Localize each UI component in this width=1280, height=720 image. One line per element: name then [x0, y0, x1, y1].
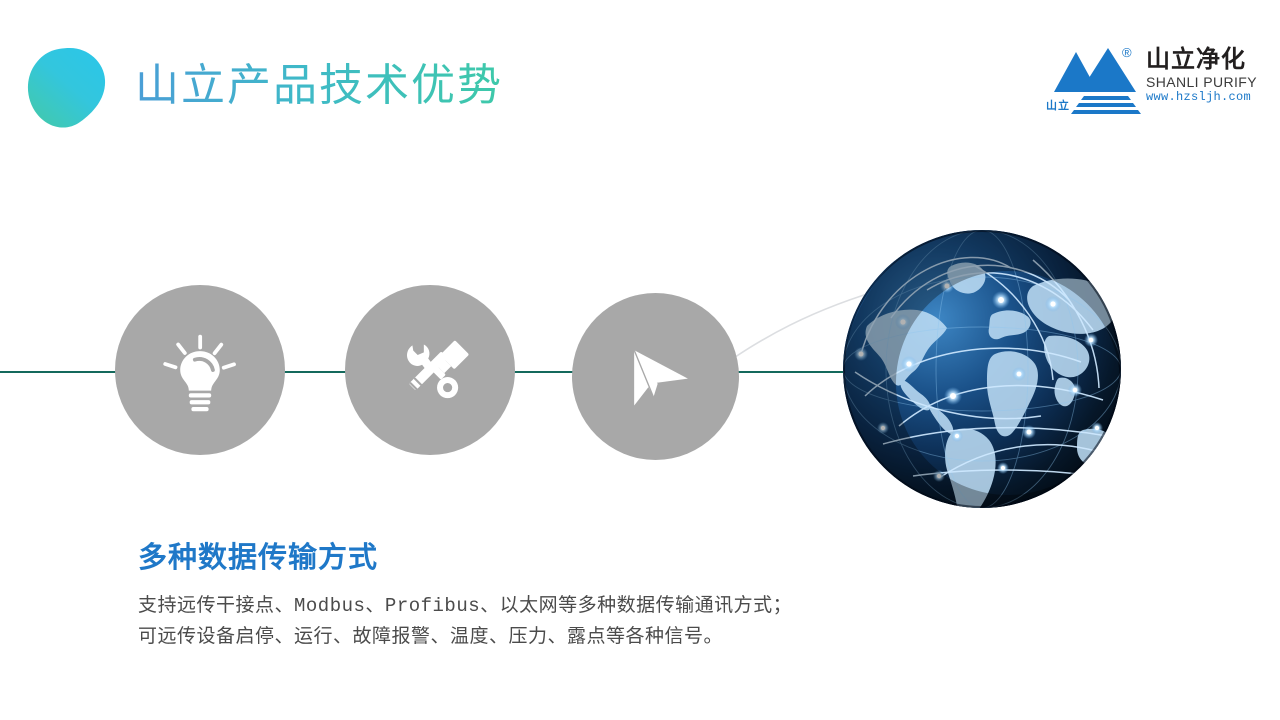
paper-plane-icon [614, 335, 698, 419]
logo-wordmark: 山立净化 SHANLI PURIFY www.hzsljh.com [1146, 46, 1270, 105]
brand-logo: ® 山立 山立净化 SHANLI PURIFY www.hzsljh.com [1046, 44, 1268, 120]
slide-canvas: 山立产品技术优势 ® 山立 山立净化 SHANLI PURIFY www.hzs… [0, 0, 1280, 720]
logo-mark-caption: 山立 [1046, 97, 1070, 113]
network-globe-icon [843, 230, 1121, 508]
wrench-screwdriver-icon [386, 326, 474, 414]
logo-company-en: SHANLI PURIFY [1146, 74, 1270, 90]
lightbulb-icon [157, 327, 243, 413]
logo-website: www.hzsljh.com [1146, 90, 1270, 105]
logo-company-cn: 山立净化 [1146, 46, 1270, 74]
caption-heading: 多种数据传输方式 [138, 538, 898, 578]
caption-line-2: 可远传设备启停、运行、故障报警、温度、压力、露点等各种信号。 [138, 622, 898, 653]
header-blob-icon [24, 46, 108, 130]
registered-mark: ® [1122, 46, 1132, 59]
caption-block: 多种数据传输方式 支持远传干接点、Modbus、Profibus、以太网等多种数… [138, 538, 898, 653]
step-circle-idea[interactable] [115, 285, 285, 455]
caption-line-1: 支持远传干接点、Modbus、Profibus、以太网等多种数据传输通讯方式； [138, 591, 898, 622]
step-circle-build[interactable] [345, 285, 515, 455]
step-circle-send[interactable] [572, 293, 739, 460]
page-title: 山立产品技术优势 [135, 56, 503, 116]
